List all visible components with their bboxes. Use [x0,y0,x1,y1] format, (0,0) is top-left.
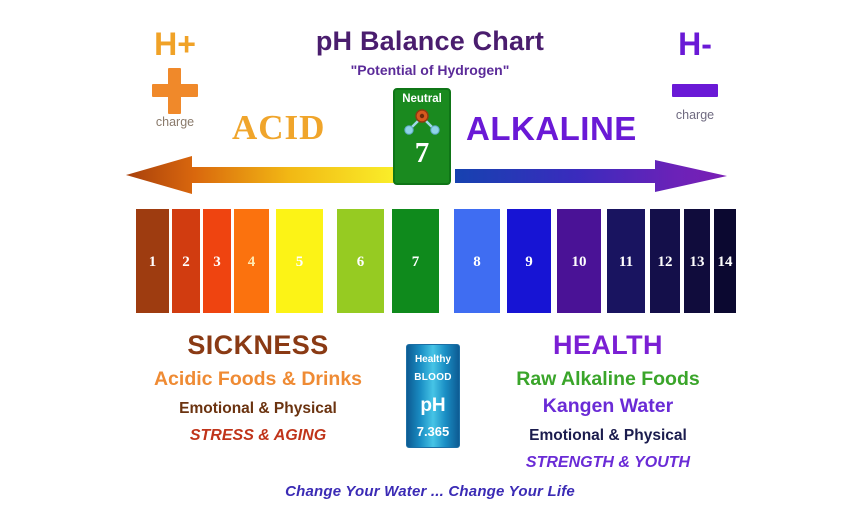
ph-bar-14: 14 [714,209,736,313]
ph-bar-13: 13 [684,209,710,313]
sickness-column: SICKNESS Acidic Foods & Drinks Emotional… [118,330,398,445]
acid-label: ACID [232,108,325,148]
health-line-3: Emotional & Physical [478,427,738,445]
ph-bar-4: 4 [234,209,269,313]
minus-sign-icon [672,84,718,97]
neutral-marker-box: Neutral 7 [393,88,451,185]
ph-bar-2: 2 [172,209,200,313]
neutral-label: Neutral [395,93,449,105]
ph-bar-12: 12 [650,209,680,313]
alkaline-direction-arrow [455,160,727,197]
blood-word-label: BLOOD [407,372,459,383]
plus-sign-icon [152,68,198,114]
health-line-1: Raw Alkaline Foods [478,368,738,391]
ph-bar-7: 7 [392,209,439,313]
sickness-line-1: Acidic Foods & Drinks [118,368,398,391]
alkaline-label: ALKALINE [466,110,637,148]
healthy-blood-ph-box: Healthy BLOOD pH 7.365 [406,344,460,448]
water-molecule-icon [400,107,444,137]
health-line-2: Kangen Water [478,395,738,418]
blood-ph-label: pH [407,395,459,417]
health-line-4: STRENGTH & YOUTH [478,454,738,472]
health-column: HEALTH Raw Alkaline Foods Kangen Water E… [478,330,738,472]
blood-healthy-label: Healthy [407,354,459,365]
blood-ph-value: 7.365 [407,424,459,439]
positive-charge-block: H+ charge [120,28,230,128]
h-plus-symbol: H+ [120,28,230,62]
h-minus-symbol: H- [640,28,750,62]
ph-bar-5: 5 [276,209,323,313]
ph-bar-6: 6 [337,209,384,313]
neutral-value: 7 [395,138,449,168]
sickness-line-2: Emotional & Physical [118,400,398,418]
ph-scale-bars: 1234567891011121314 [0,209,860,313]
ph-bar-9: 9 [507,209,551,313]
ph-bar-10: 10 [557,209,601,313]
negative-charge-caption: charge [640,109,750,122]
ph-bar-11: 11 [607,209,645,313]
tagline: Change Your Water ... Change Your Life [0,483,860,500]
health-heading: HEALTH [478,330,738,361]
acid-direction-arrow [126,156,398,199]
ph-bar-8: 8 [454,209,500,313]
ph-balance-chart: pH Balance Chart "Potential of Hydrogen"… [0,0,860,530]
negative-charge-block: H- charge [640,28,750,121]
ph-bar-1: 1 [136,209,169,313]
sickness-line-3: STRESS & AGING [118,427,398,445]
positive-charge-caption: charge [120,116,230,129]
sickness-heading: SICKNESS [118,330,398,361]
ph-bar-3: 3 [203,209,231,313]
